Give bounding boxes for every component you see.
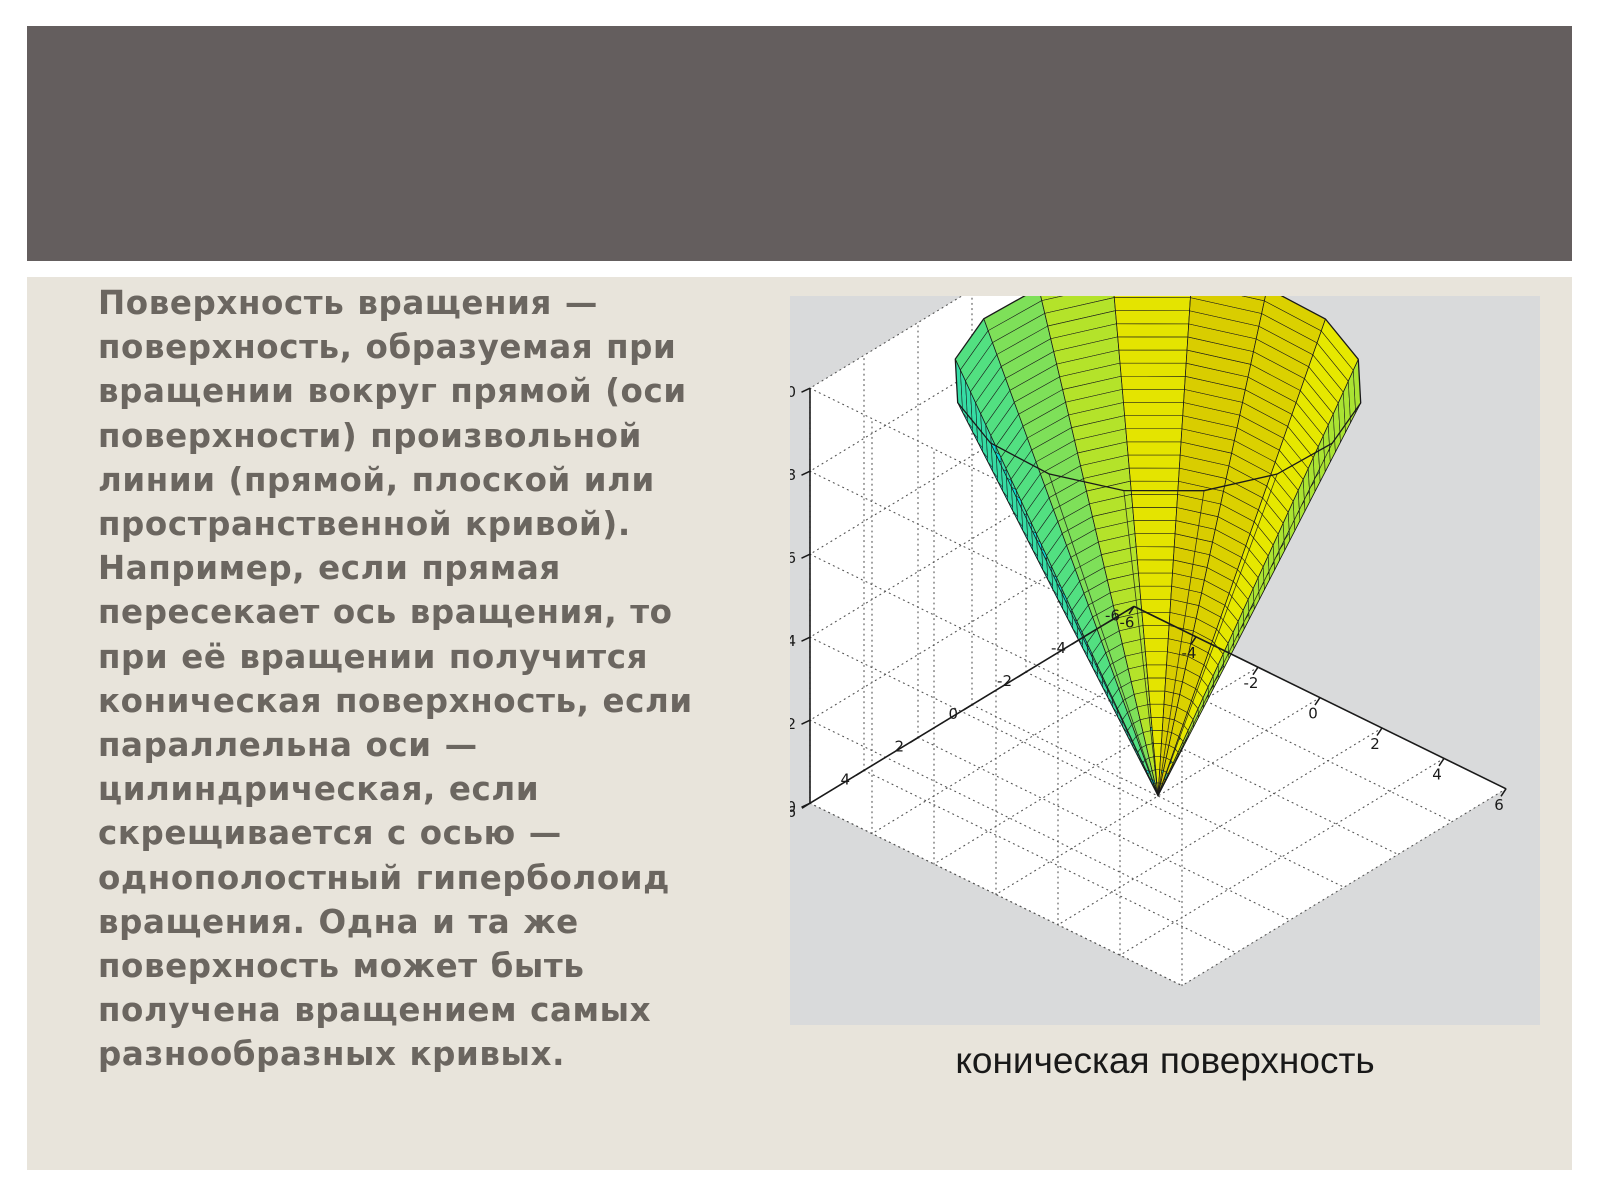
slide-banner (27, 26, 1572, 261)
tick-label: -6 (1120, 613, 1135, 631)
tick-label: -2 (1244, 674, 1259, 692)
tick-label: 0 (948, 705, 958, 723)
tick-label: 6 (1494, 796, 1504, 814)
body-paragraph: Поверхность вращения — поверхность, обра… (98, 281, 738, 1077)
tick-label: 4 (840, 770, 850, 788)
tick-label: 2 (894, 738, 904, 756)
tick-label: 6 (790, 549, 796, 567)
tick-label: 4 (790, 632, 796, 650)
tick-label: 2 (1370, 735, 1380, 753)
cone-plot-svg: 02468106420-2-4-6-6-4-20246 (790, 296, 1540, 1025)
tick-label: 10 (790, 383, 796, 401)
tick-label: -2 (997, 672, 1012, 690)
tick-label: 6 (790, 803, 796, 821)
tick-label: 2 (790, 715, 796, 733)
tick-label: -4 (1051, 639, 1066, 657)
tick-label: -4 (1182, 644, 1197, 662)
tick-label: -6 (1105, 606, 1120, 624)
tick-label: 0 (1308, 705, 1318, 723)
tick-label: 8 (790, 466, 796, 484)
tick-label: 4 (1432, 765, 1442, 783)
figure-panel: 02468106420-2-4-6-6-4-20246 (790, 296, 1540, 1025)
figure-caption: коническая поверхность (790, 1025, 1540, 1082)
slide: Поверхность вращения — поверхность, обра… (0, 0, 1600, 1200)
